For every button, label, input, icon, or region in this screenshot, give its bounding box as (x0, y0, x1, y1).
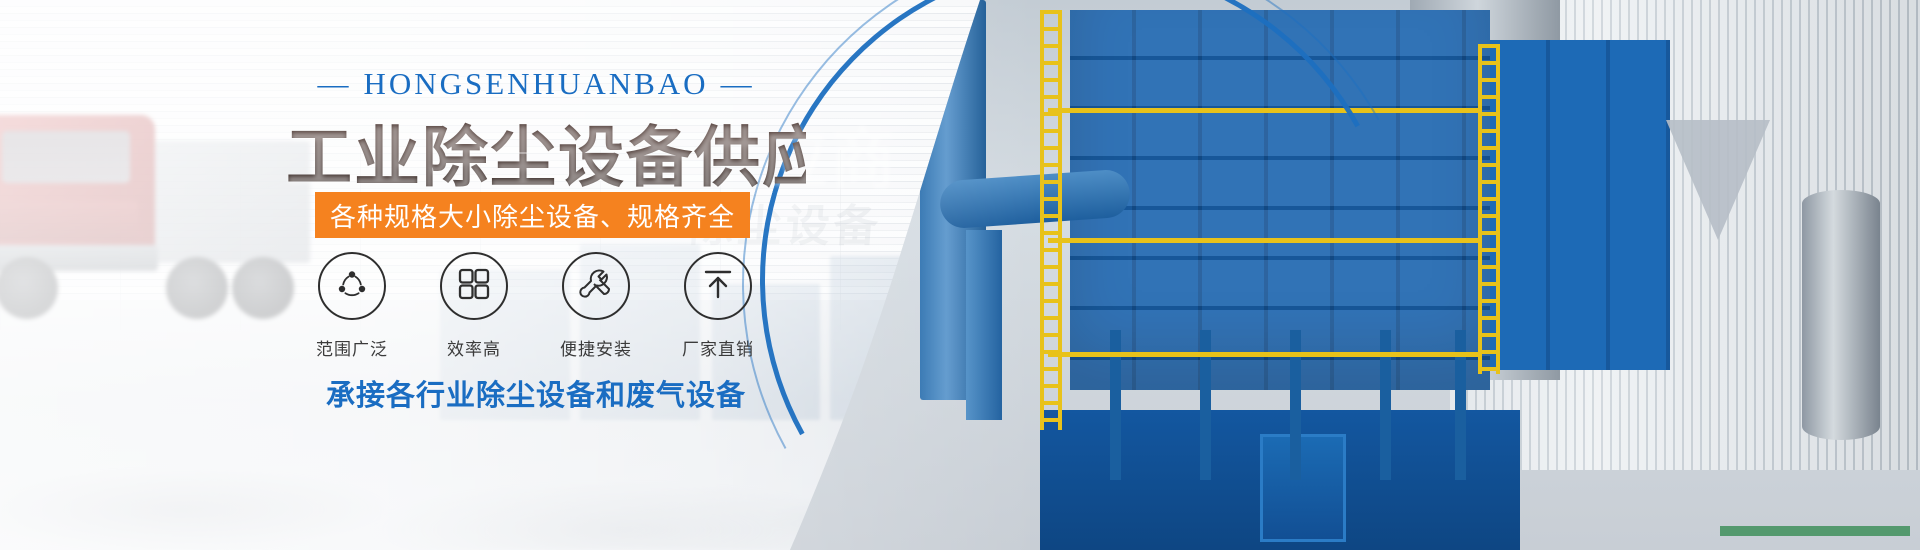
hero-banner: 除尘设备 —HONGSENHUANBAO— 工业除尘设备供应商 (0, 0, 1920, 550)
eyebrow-brand-latin: —HONGSENHUANBAO— (286, 66, 786, 102)
feature-item-wide-range: 范围广泛 (300, 252, 404, 360)
feature-label: 范围广泛 (300, 335, 404, 360)
feature-item-high-efficiency: 效率高 (422, 252, 526, 360)
feature-item-factory-direct: 厂家直销 (666, 252, 770, 360)
feature-icon-ring (440, 252, 508, 320)
page-title: 工业除尘设备供应商 (286, 104, 806, 200)
orange-subtitle-text: 各种规格大小除尘设备、规格齐全 (330, 197, 735, 234)
banner-content: —HONGSENHUANBAO— 工业除尘设备供应商 各种规格大小除尘设备、规格… (0, 0, 1060, 550)
wrench-icon (576, 264, 616, 309)
orange-subtitle-bar: 各种规格大小除尘设备、规格齐全 (315, 192, 750, 238)
feature-icon-ring (684, 252, 752, 320)
feature-icon-ring (318, 252, 386, 320)
feature-icon-ring (562, 252, 630, 320)
feature-list: 范围广泛 效率高 (300, 252, 770, 360)
dash-left: — (305, 66, 363, 102)
eyebrow-text: HONGSENHUANBAO (363, 66, 708, 101)
feature-label: 厂家直销 (666, 335, 770, 360)
network-nodes-icon (332, 264, 372, 309)
arrow-up-bar-icon (699, 265, 737, 308)
grid-four-squares-icon (456, 266, 492, 307)
feature-label: 便捷安装 (544, 335, 648, 360)
feature-label: 效率高 (422, 335, 526, 360)
feature-item-easy-install: 便捷安装 (544, 252, 648, 360)
tagline-text: 承接各行业除尘设备和废气设备 (286, 372, 786, 414)
dash-right: — (709, 66, 767, 102)
